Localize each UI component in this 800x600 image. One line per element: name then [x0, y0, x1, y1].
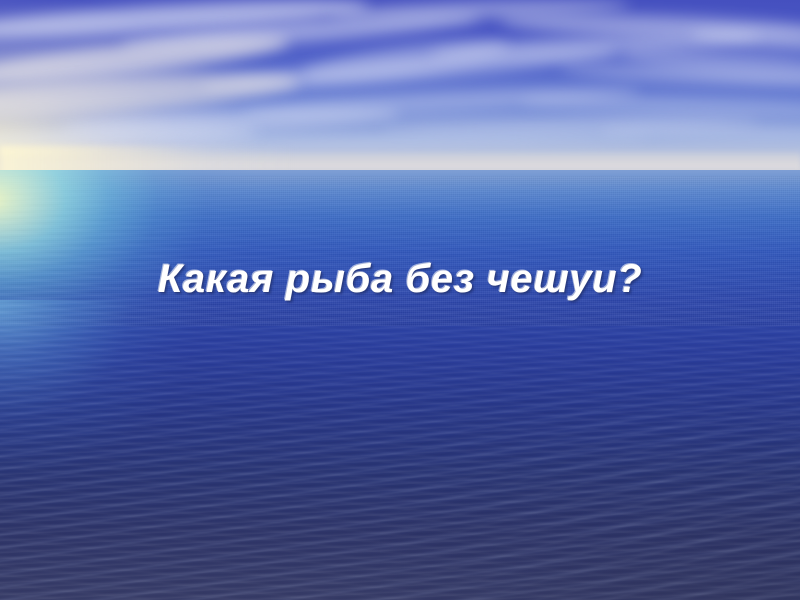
slide-title: Какая рыба без чешуи? [158, 258, 643, 300]
slide-canvas: Какая рыба без чешуи? [0, 0, 800, 600]
title-container: Какая рыба без чешуи? [0, 258, 800, 300]
water-shadow-falloff [0, 170, 800, 600]
